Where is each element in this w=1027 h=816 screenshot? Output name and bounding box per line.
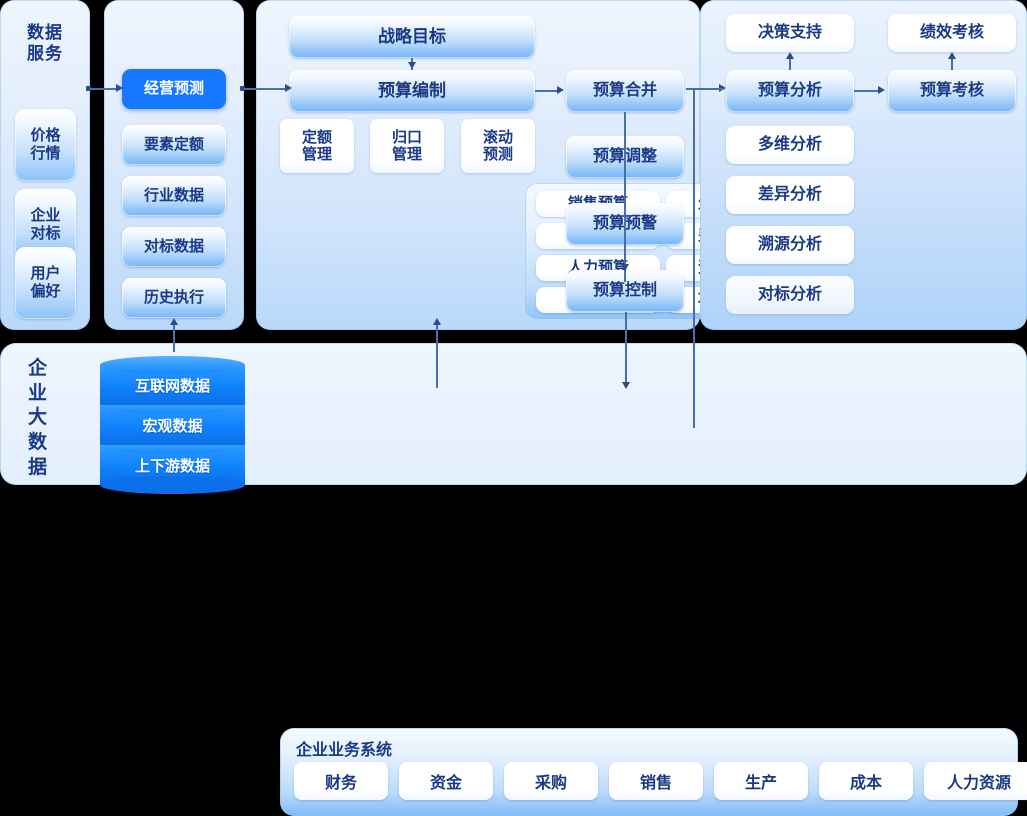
data-source-label: 经营预测 [144, 80, 204, 97]
node-label: 滚动预测 [483, 129, 513, 164]
connector-arrow [948, 52, 956, 59]
node-performance-review[interactable]: 绩效考核 [888, 14, 1016, 52]
service-chip-label: 企业对标 [30, 207, 60, 243]
node-label: 预算合并 [593, 82, 657, 100]
connector-arrow [786, 52, 794, 59]
connector-line [90, 88, 118, 90]
node-centralized-management[interactable]: 归口管理 [370, 119, 444, 173]
node-budget-analysis[interactable]: 预算分析 [726, 70, 854, 112]
business-system-label: 采购 [535, 769, 567, 793]
panel-budget-analysis: 决策支持 绩效考核 预算分析 预算考核 多维分析 差异分析 溯源分析 对标分析 [700, 0, 1027, 330]
node-label: 预算分析 [758, 82, 822, 100]
data-source-label: 行业数据 [144, 187, 204, 204]
node-label: 差异分析 [758, 186, 822, 204]
panel-data-services-title: 数据服务 [8, 22, 82, 65]
diagram-canvas: 数据服务 价格行情 企业对标 用户偏好 经营预测 要素定额 行业数据 对标数据 … [0, 0, 1027, 485]
data-source-label: 对标数据 [144, 238, 204, 255]
service-chip-label: 价格行情 [30, 127, 60, 163]
business-system-label: 人力资源 [947, 769, 1011, 793]
panel-budget-preparation: 战略目标 预算编制 定额管理 归口管理 滚动预测 销售预算 生产预算 成本预算 … [256, 0, 700, 330]
connector-arrow [285, 84, 292, 92]
node-label: 溯源分析 [758, 236, 822, 254]
business-system-sales[interactable]: 销售 [609, 762, 703, 800]
connector-arrow [433, 318, 441, 325]
node-label: 决策支持 [758, 24, 822, 42]
business-system-label: 财务 [325, 769, 357, 793]
connector-line [624, 112, 626, 282]
data-source-industry[interactable]: 行业数据 [122, 176, 226, 216]
node-label: 绩效考核 [920, 24, 984, 42]
node-label: 预算编制 [378, 81, 446, 101]
service-chip-price[interactable]: 价格行情 [15, 109, 76, 181]
node-traceability-analysis[interactable]: 溯源分析 [726, 226, 854, 264]
data-source-quota[interactable]: 要素定额 [122, 125, 226, 165]
connector-line [693, 90, 695, 428]
node-budget-assessment[interactable]: 预算考核 [888, 70, 1016, 112]
business-system-finance[interactable]: 财务 [294, 762, 388, 800]
business-system-procurement[interactable]: 采购 [504, 762, 598, 800]
connector-arrow [408, 62, 416, 69]
business-system-label: 销售 [640, 769, 672, 793]
connector-line [535, 90, 559, 92]
node-quota-management[interactable]: 定额管理 [280, 119, 354, 173]
database-cylinder-upstream-downstream[interactable]: 上下游数据 [100, 445, 245, 485]
panel-data-services: 数据服务 价格行情 企业对标 用户偏好 [0, 0, 90, 330]
node-label: 归口管理 [392, 129, 422, 164]
node-budget-compile[interactable]: 预算编制 [289, 70, 535, 112]
data-source-benchmark[interactable]: 对标数据 [122, 227, 226, 267]
node-budget-merge[interactable]: 预算合并 [566, 70, 684, 112]
business-system-label: 生产 [745, 769, 777, 793]
node-label: 定额管理 [302, 129, 332, 164]
business-system-label: 成本 [850, 769, 882, 793]
node-variance-analysis[interactable]: 差异分析 [726, 176, 854, 214]
connector-line [173, 322, 175, 352]
node-label: 战略目标 [378, 27, 446, 47]
connector-line [693, 88, 723, 90]
node-label: 对标分析 [758, 286, 822, 304]
node-label: 预算考核 [920, 82, 984, 100]
connector-arrow [621, 264, 629, 271]
node-rolling-forecast[interactable]: 滚动预测 [461, 119, 535, 173]
connector-arrow [170, 318, 178, 325]
node-strategy-goal[interactable]: 战略目标 [289, 16, 535, 58]
database-label: 上下游数据 [100, 445, 245, 485]
data-source-forecast[interactable]: 经营预测 [122, 69, 226, 109]
database-cylinder-internet[interactable]: 互联网数据 [100, 365, 245, 405]
node-benchmark-analysis[interactable]: 对标分析 [726, 276, 854, 314]
business-system-label: 资金 [430, 769, 462, 793]
database-cylinder-macro[interactable]: 宏观数据 [100, 405, 245, 445]
connector-line [244, 88, 288, 90]
business-systems-title: 企业业务系统 [296, 736, 392, 760]
node-label: 预算控制 [593, 282, 657, 300]
node-decision-support[interactable]: 决策支持 [726, 14, 854, 52]
panel-bigdata-title: 企业大数据 [16, 357, 60, 480]
business-system-production[interactable]: 生产 [714, 762, 808, 800]
connector-arrow [116, 84, 123, 92]
data-source-history[interactable]: 历史执行 [122, 278, 226, 318]
service-chip-preference[interactable]: 用户偏好 [15, 247, 76, 319]
connector-arrow [878, 86, 885, 94]
node-multidimensional-analysis[interactable]: 多维分析 [726, 126, 854, 164]
database-stack: 上下游数据 宏观数据 互联网数据 [100, 355, 245, 473]
business-system-capital[interactable]: 资金 [399, 762, 493, 800]
data-source-label: 历史执行 [144, 289, 204, 306]
node-label: 多维分析 [758, 136, 822, 154]
service-chip-label: 用户偏好 [30, 265, 60, 301]
business-system-hr[interactable]: 人力资源 [924, 762, 1027, 800]
database-label: 宏观数据 [100, 405, 245, 445]
panel-data-sources: 经营预测 要素定额 行业数据 对标数据 历史执行 [104, 0, 244, 330]
connector-arrow [622, 382, 630, 389]
connector-line [854, 90, 880, 92]
business-systems-box: 企业业务系统 财务 资金 采购 销售 生产 成本 人力资源 [280, 728, 1018, 816]
data-source-label: 要素定额 [144, 136, 204, 153]
business-system-cost[interactable]: 成本 [819, 762, 913, 800]
database-label: 互联网数据 [100, 365, 245, 405]
connector-line [436, 322, 438, 388]
connector-line [625, 312, 627, 386]
panel-enterprise-bigdata: 企业大数据 上下游数据 宏观数据 互联网数据 企业业务系统 财务 资金 [0, 343, 1027, 485]
connector-arrow [557, 86, 564, 94]
